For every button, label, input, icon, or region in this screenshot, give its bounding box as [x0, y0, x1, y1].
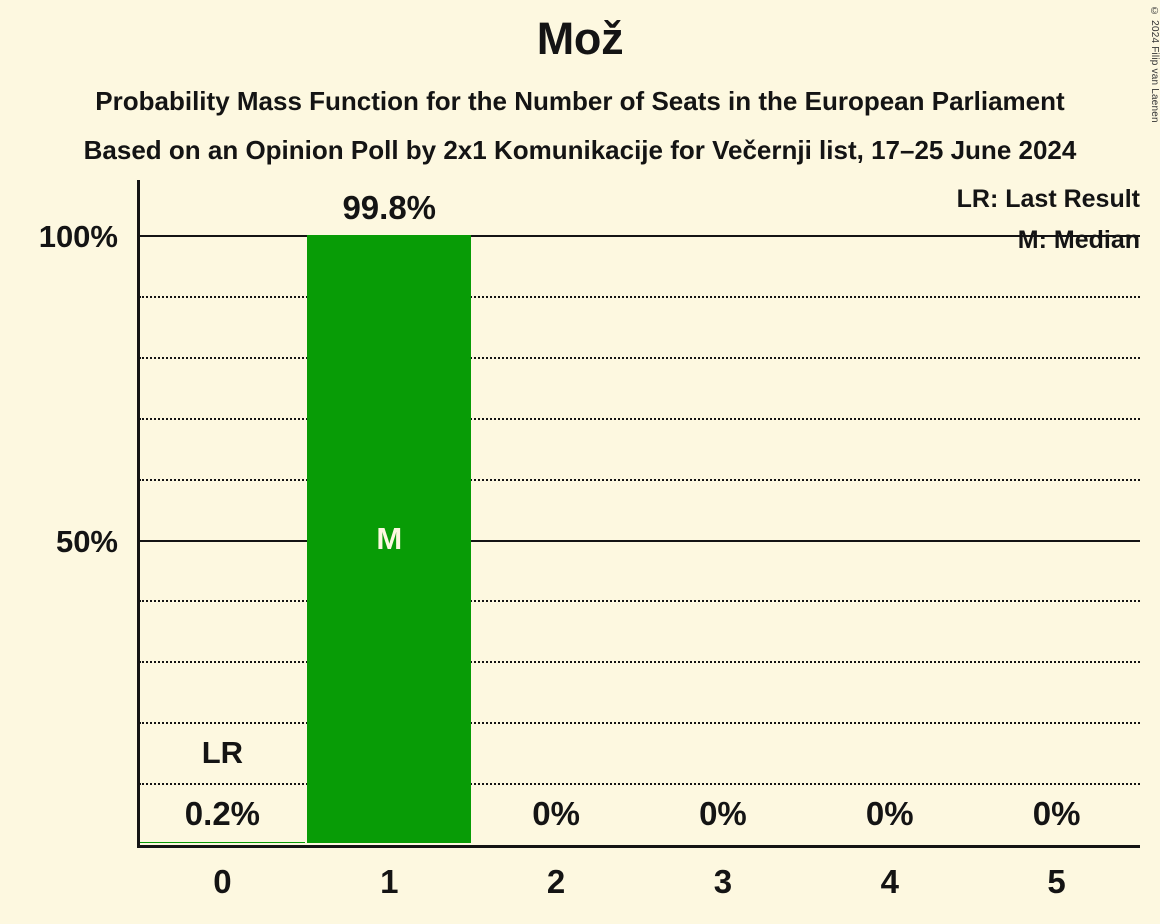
x-axis-tick-label: 4 [806, 865, 973, 898]
x-axis-tick-label: 2 [473, 865, 640, 898]
gridline-minor [139, 661, 1140, 663]
chart-subtitle-primary: Probability Mass Function for the Number… [0, 88, 1160, 114]
gridline-minor [139, 600, 1140, 602]
bar-value-label: 99.8% [306, 191, 473, 224]
y-axis-tick-label: 100% [0, 221, 118, 252]
bar[interactable]: M [307, 235, 471, 843]
y-axis-labels: 100%50% [0, 180, 128, 860]
median-marker: M [307, 523, 471, 554]
bar-value-label: 0.2% [139, 797, 306, 830]
bar-value-label: 0% [973, 797, 1140, 830]
gridline-major [139, 540, 1140, 542]
x-axis-tick-label: 1 [306, 865, 473, 898]
copyright-notice: © 2024 Filip van Laenen [1146, 6, 1160, 146]
chart-page: Mož Probability Mass Function for the Nu… [0, 0, 1160, 924]
x-axis-tick-label: 3 [640, 865, 807, 898]
page-title: Mož [0, 16, 1160, 61]
gridline-minor [139, 357, 1140, 359]
gridline-minor [139, 783, 1140, 785]
gridline-minor [139, 296, 1140, 298]
x-axis-line [137, 845, 1140, 848]
chart-subtitle-secondary: Based on an Opinion Poll by 2x1 Komunika… [0, 137, 1160, 163]
bar-value-label: 0% [640, 797, 807, 830]
gridline-minor [139, 479, 1140, 481]
gridline-major [139, 235, 1140, 237]
bar-value-label: 0% [806, 797, 973, 830]
x-axis-tick-label: 5 [973, 865, 1140, 898]
x-axis-labels: 012345 [139, 865, 1140, 915]
last-result-marker: LR [139, 737, 306, 768]
y-axis-tick-label: 50% [0, 526, 118, 557]
plot-area: 0.2%LRM99.8%0%0%0%0% [139, 180, 1140, 846]
gridline-minor [139, 418, 1140, 420]
x-axis-tick-label: 0 [139, 865, 306, 898]
bar-value-label: 0% [473, 797, 640, 830]
bar[interactable] [140, 842, 304, 843]
gridline-minor [139, 722, 1140, 724]
